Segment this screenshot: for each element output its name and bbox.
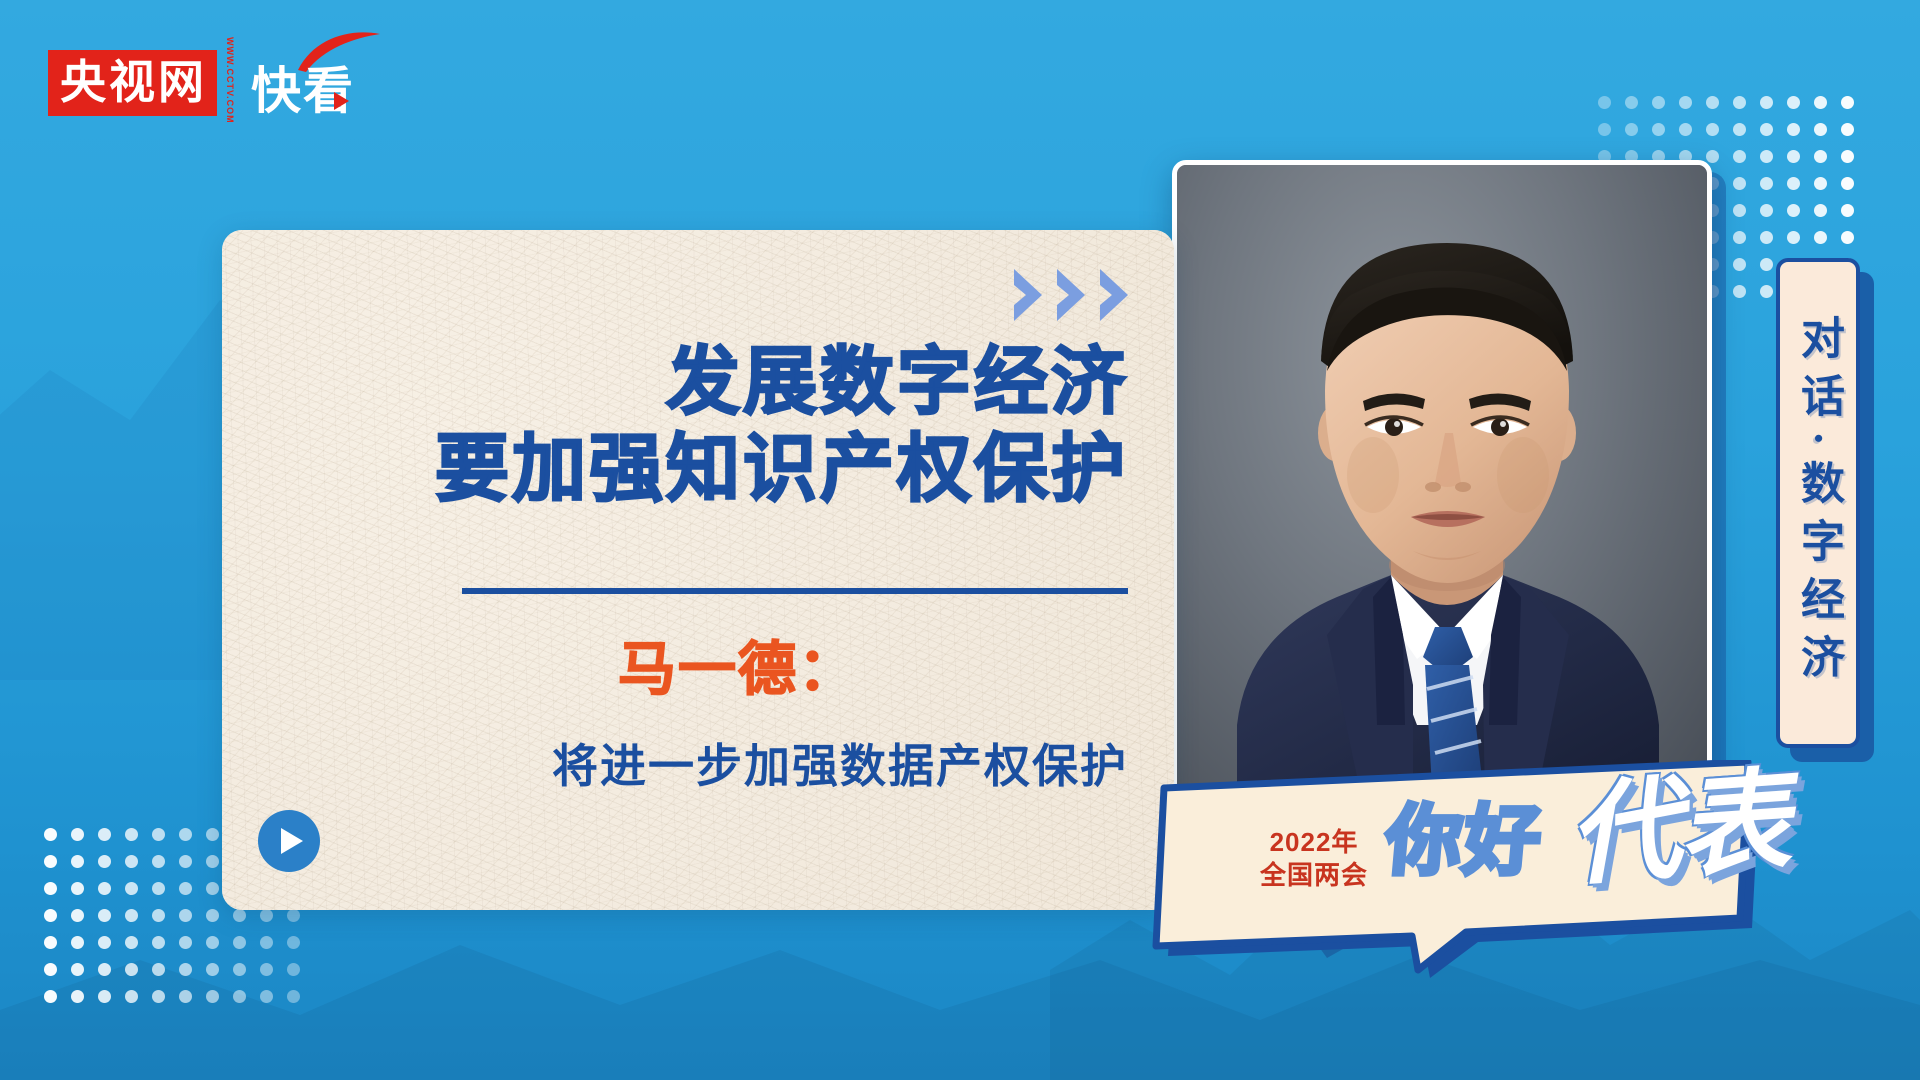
program-year-line2: 全国两会 bbox=[1260, 859, 1368, 892]
headline-card: 发展数字经济 要加强知识产权保护 马一德： 将进一步加强数据产权保护 bbox=[222, 230, 1174, 910]
logo-red-box: 央视网 bbox=[48, 50, 217, 116]
logo-url-text: WWW.CCTV.COM bbox=[225, 37, 235, 124]
chevron-right-icon bbox=[1055, 267, 1093, 323]
logo-suffix-text: 快看 bbox=[251, 63, 355, 119]
chevron-group bbox=[1012, 267, 1136, 323]
vertical-badge: 对话·数字经济 bbox=[1776, 258, 1860, 748]
divider-rule bbox=[462, 588, 1128, 594]
headline: 发展数字经济 要加强知识产权保护 bbox=[435, 338, 1128, 513]
program-title-part1: 你好 bbox=[1383, 804, 1546, 880]
program-year: 2022年 全国两会 bbox=[1260, 826, 1368, 891]
speaker-name: 马一德： bbox=[618, 622, 858, 706]
chevron-right-icon bbox=[1098, 267, 1136, 323]
program-year-line1: 2022年 bbox=[1260, 826, 1368, 859]
chevron-right-icon bbox=[1012, 267, 1050, 323]
logo-suffix: 快看 bbox=[251, 66, 355, 116]
logo-brand-text: 央视网 bbox=[60, 59, 207, 105]
program-title-part2: 代表 bbox=[1564, 766, 1791, 893]
headline-line-1: 发展数字经济 bbox=[435, 338, 1128, 425]
subtitle: 将进一步加强数据产权保护 bbox=[552, 730, 1128, 796]
program-badge: 2022年 全国两会 你好 代表 bbox=[1148, 760, 1788, 980]
play-button[interactable] bbox=[258, 810, 320, 872]
play-triangle-icon bbox=[281, 828, 303, 854]
cctv-kuaikan-logo[interactable]: 央视网 WWW.CCTV.COM 快看 bbox=[48, 32, 355, 116]
card-paper-base bbox=[222, 230, 1174, 910]
vertical-badge-text: 对话·数字经济 bbox=[1796, 315, 1840, 692]
logo-play-triangle-icon bbox=[334, 92, 349, 110]
portrait-illustration bbox=[1177, 165, 1712, 800]
headline-line-2: 要加强知识产权保护 bbox=[435, 425, 1128, 512]
poster-stage: 央视网 WWW.CCTV.COM 快看 bbox=[0, 0, 1920, 1080]
logo-url-column: WWW.CCTV.COM bbox=[217, 32, 243, 116]
portrait-photo bbox=[1172, 160, 1712, 800]
